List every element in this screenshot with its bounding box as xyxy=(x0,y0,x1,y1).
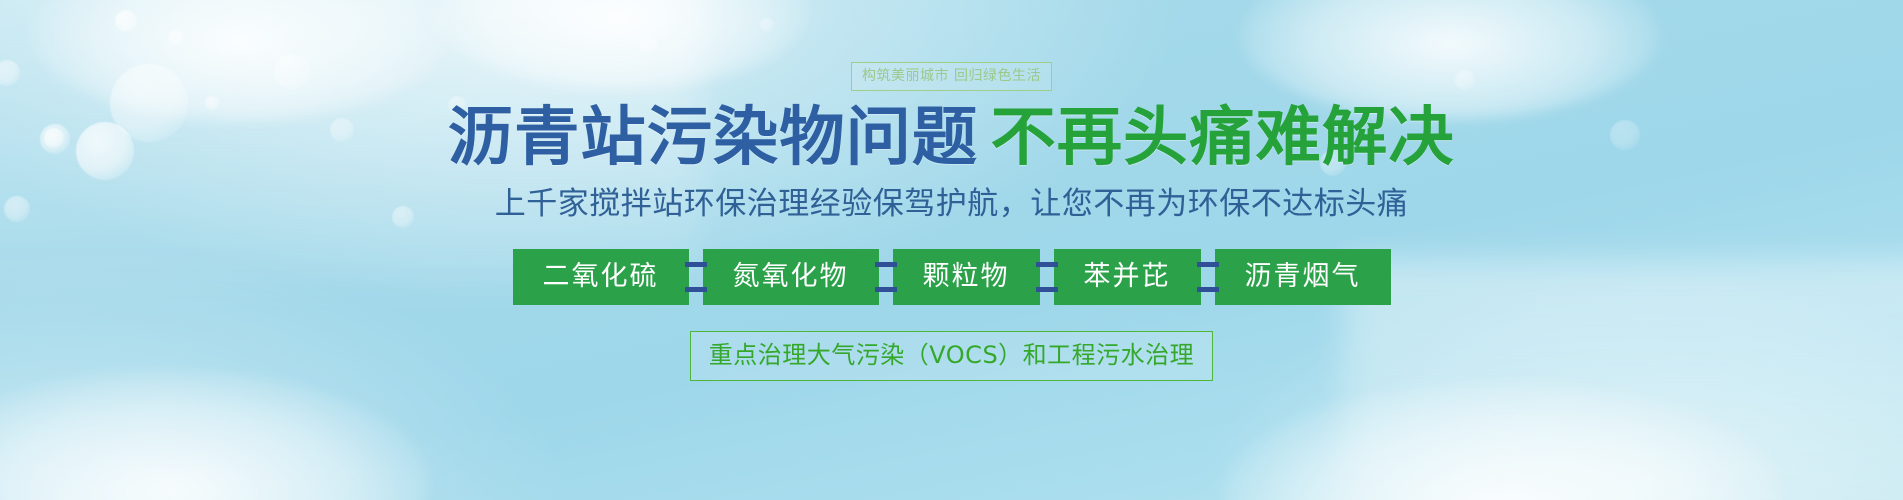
footnote-box: 重点治理大气污染（VOCS）和工程污水治理 xyxy=(690,331,1213,381)
tag-chip[interactable]: 苯并芘 xyxy=(1054,249,1201,305)
headline-primary: 沥青站污染物问题 xyxy=(448,105,978,172)
tag-chip[interactable]: 氮氧化物 xyxy=(703,249,879,305)
page-subtitle: 上千家搅拌站环保治理经验保驾护航，让您不再为环保不达标头痛 xyxy=(495,186,1409,223)
tag-separator xyxy=(1040,249,1054,305)
pollutant-tag-row: 二氧化硫 氮氧化物 颗粒物 苯并芘 沥青烟气 xyxy=(513,249,1391,305)
tag-chip[interactable]: 二氧化硫 xyxy=(513,249,689,305)
eyebrow-badge: 构筑美丽城市 回归绿色生活 xyxy=(851,62,1052,91)
separator-dash-icon xyxy=(1036,262,1058,267)
tag-separator xyxy=(689,249,703,305)
separator-dash-icon xyxy=(1036,287,1058,292)
separator-dash-icon xyxy=(875,287,897,292)
headline-accent: 不再头痛难解决 xyxy=(990,105,1454,172)
tag-separator xyxy=(1201,249,1215,305)
banner-content: 构筑美丽城市 回归绿色生活 沥青站污染物问题 不再头痛难解决 上千家搅拌站环保治… xyxy=(0,0,1903,500)
tag-chip[interactable]: 颗粒物 xyxy=(893,249,1040,305)
separator-dash-icon xyxy=(1197,262,1219,267)
separator-dash-icon xyxy=(685,287,707,292)
separator-dash-icon xyxy=(685,262,707,267)
page-title: 沥青站污染物问题 不再头痛难解决 xyxy=(453,105,1450,172)
tag-chip[interactable]: 沥青烟气 xyxy=(1215,249,1391,305)
hero-banner: 构筑美丽城市 回归绿色生活 沥青站污染物问题 不再头痛难解决 上千家搅拌站环保治… xyxy=(0,0,1903,500)
tag-separator xyxy=(879,249,893,305)
separator-dash-icon xyxy=(1197,287,1219,292)
separator-dash-icon xyxy=(875,262,897,267)
